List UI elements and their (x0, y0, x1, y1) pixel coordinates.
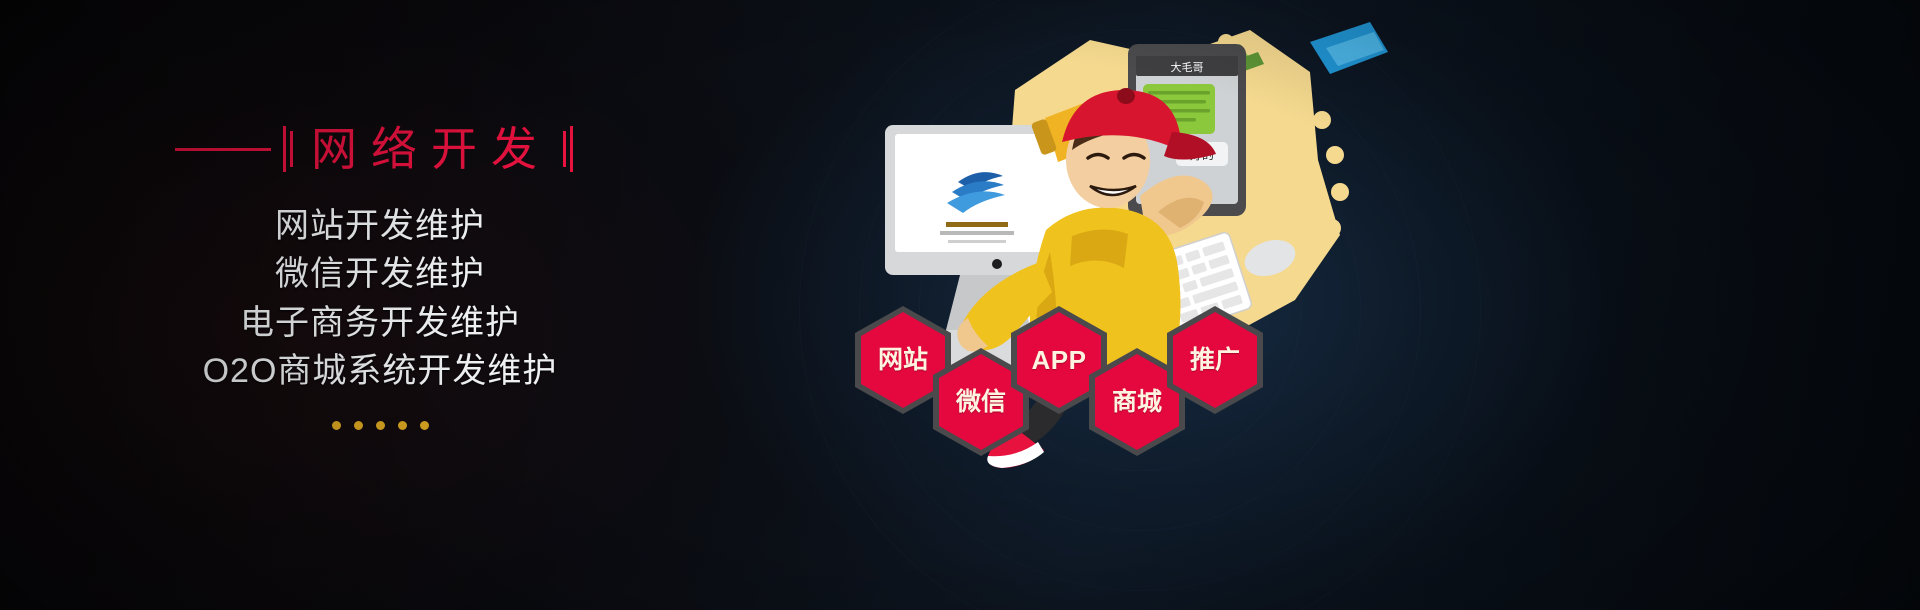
decorative-dots (0, 421, 760, 430)
badge-label: 网站 (878, 348, 928, 373)
banner-title-row: 网络开发 (0, 118, 760, 180)
service-line: 电子商务开发维护 (0, 299, 760, 347)
page-title: 网络开发 (305, 126, 551, 172)
web-development-banner: 网络开发 网站开发维护 微信开发维护 电子商务开发维护 O2O商城系统开发维护 (0, 0, 1920, 610)
badge-label: 微信 (956, 390, 1006, 415)
tablet-header-text: 大毛哥 (1171, 60, 1204, 74)
banner-text-block: 网络开发 网站开发维护 微信开发维护 电子商务开发维护 O2O商城系统开发维护 (0, 118, 760, 430)
service-line: 微信开发维护 (0, 250, 760, 298)
service-line: O2O商城系统开发维护 (0, 347, 760, 395)
badge-label: APP (1032, 347, 1087, 373)
badge-label: 商城 (1112, 390, 1162, 415)
service-line: 网站开发维护 (0, 202, 760, 250)
title-bars-left (283, 126, 293, 172)
service-line-list: 网站开发维护 微信开发维护 电子商务开发维护 O2O商城系统开发维护 (0, 202, 760, 395)
title-bars-right (563, 126, 573, 172)
title-rule-left (175, 148, 271, 151)
hex-badge-group: 网站 微信 APP 商城 推广 (855, 300, 1315, 450)
badge-label: 推广 (1190, 348, 1240, 373)
